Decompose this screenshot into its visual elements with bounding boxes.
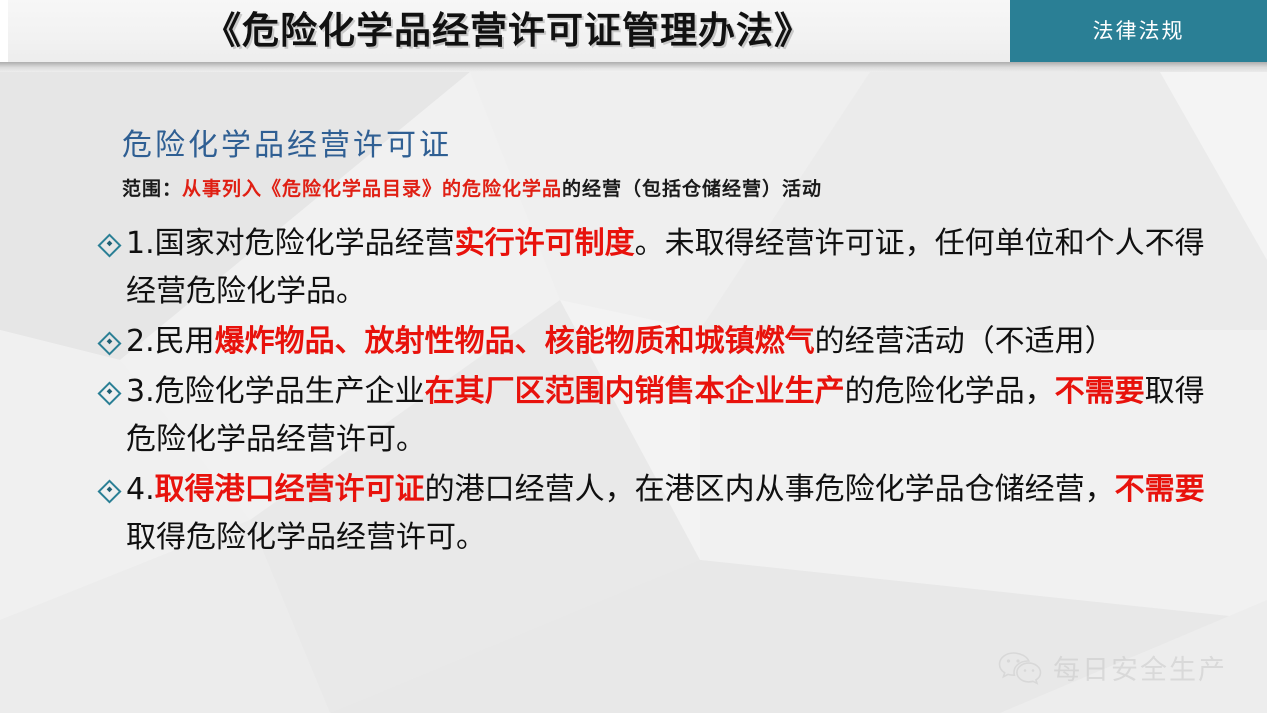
category-badge: 法律法规 bbox=[1010, 0, 1267, 62]
bullet-segment: 2.民用 bbox=[126, 324, 215, 359]
header-shadow-divider bbox=[0, 62, 1267, 72]
header-left-accent bbox=[0, 0, 8, 62]
diamond-bullet-icon bbox=[97, 479, 121, 503]
bullet-segment-emphasis: 取得港口经营许可证 bbox=[155, 472, 425, 507]
bullet-segment: 的经营活动（不适用） bbox=[815, 324, 1115, 359]
bullet-text: 1.国家对危险化学品经营实行许可制度。未取得经营许可证，任何单位和个人不得经营危… bbox=[126, 220, 1232, 316]
bullet-text: 3.危险化学品生产企业在其厂区范围内销售本企业生产的危险化学品，不需要取得危险化… bbox=[126, 368, 1232, 464]
bullet-segment: 1.国家对危险化学品经营 bbox=[126, 226, 455, 261]
scope-tail: 的经营（包括仓储经营）活动 bbox=[562, 178, 822, 200]
diamond-bullet-icon bbox=[97, 233, 121, 257]
bullet-segment-emphasis: 不需要 bbox=[1055, 374, 1145, 409]
bullet-text: 4.取得港口经营许可证的港口经营人，在港区内从事危险化学品仓储经营，不需要取得危… bbox=[126, 466, 1232, 562]
scope-highlight: 从事列入《危险化学品目录》的危险化学品 bbox=[182, 178, 562, 200]
slide-content: 危险化学品经营许可证 范围：从事列入《危险化学品目录》的危险化学品的经营（包括仓… bbox=[0, 72, 1267, 713]
diamond-bullet-icon bbox=[97, 381, 121, 405]
bullet-marker bbox=[92, 466, 126, 500]
slide-canvas: 《危险化学品经营许可证管理办法》 法律法规 危险化学品经营许可证 范围：从事列入… bbox=[0, 0, 1267, 713]
scope-label: 范围： bbox=[122, 178, 182, 200]
bullet-text: 2.民用爆炸物品、放射性物品、核能物质和城镇燃气的经营活动（不适用） bbox=[126, 318, 1232, 366]
bullet-segment-emphasis: 在其厂区范围内销售本企业生产 bbox=[425, 374, 845, 409]
bullet-segment-emphasis: 实行许可制度 bbox=[455, 226, 635, 261]
list-item: 3.危险化学品生产企业在其厂区范围内销售本企业生产的危险化学品，不需要取得危险化… bbox=[92, 368, 1232, 464]
section-subheading: 危险化学品经营许可证 bbox=[122, 120, 452, 164]
list-item: 1.国家对危险化学品经营实行许可制度。未取得经营许可证，任何单位和个人不得经营危… bbox=[92, 220, 1232, 316]
scope-line: 范围：从事列入《危险化学品目录》的危险化学品的经营（包括仓储经营）活动 bbox=[122, 174, 822, 201]
list-item: 4.取得港口经营许可证的港口经营人，在港区内从事危险化学品仓储经营，不需要取得危… bbox=[92, 466, 1232, 562]
bullet-segment: 的危险化学品， bbox=[845, 374, 1055, 409]
page-title: 《危险化学品经营许可证管理办法》 bbox=[8, 0, 1008, 62]
bullet-marker bbox=[92, 318, 126, 352]
watermark-text: 每日安全生产 bbox=[1053, 648, 1227, 687]
wechat-icon bbox=[997, 651, 1043, 685]
bullet-segment: 4. bbox=[126, 472, 155, 507]
bullet-segment: 取得危险化学品经营许可。 bbox=[126, 520, 486, 555]
bullet-segment-emphasis: 爆炸物品、放射性物品、核能物质和城镇燃气 bbox=[215, 324, 815, 359]
slide-header: 《危险化学品经营许可证管理办法》 法律法规 bbox=[0, 0, 1267, 68]
watermark: 每日安全生产 bbox=[997, 648, 1227, 687]
bullet-marker bbox=[92, 220, 126, 254]
list-item: 2.民用爆炸物品、放射性物品、核能物质和城镇燃气的经营活动（不适用） bbox=[92, 318, 1232, 366]
bullet-list: 1.国家对危险化学品经营实行许可制度。未取得经营许可证，任何单位和个人不得经营危… bbox=[92, 220, 1232, 564]
bullet-segment-emphasis: 不需要 bbox=[1115, 472, 1205, 507]
bullet-segment: 的港口经营人，在港区内从事危险化学品仓储经营， bbox=[425, 472, 1115, 507]
diamond-bullet-icon bbox=[97, 331, 121, 355]
bullet-marker bbox=[92, 368, 126, 402]
bullet-segment: 3.危险化学品生产企业 bbox=[126, 374, 425, 409]
